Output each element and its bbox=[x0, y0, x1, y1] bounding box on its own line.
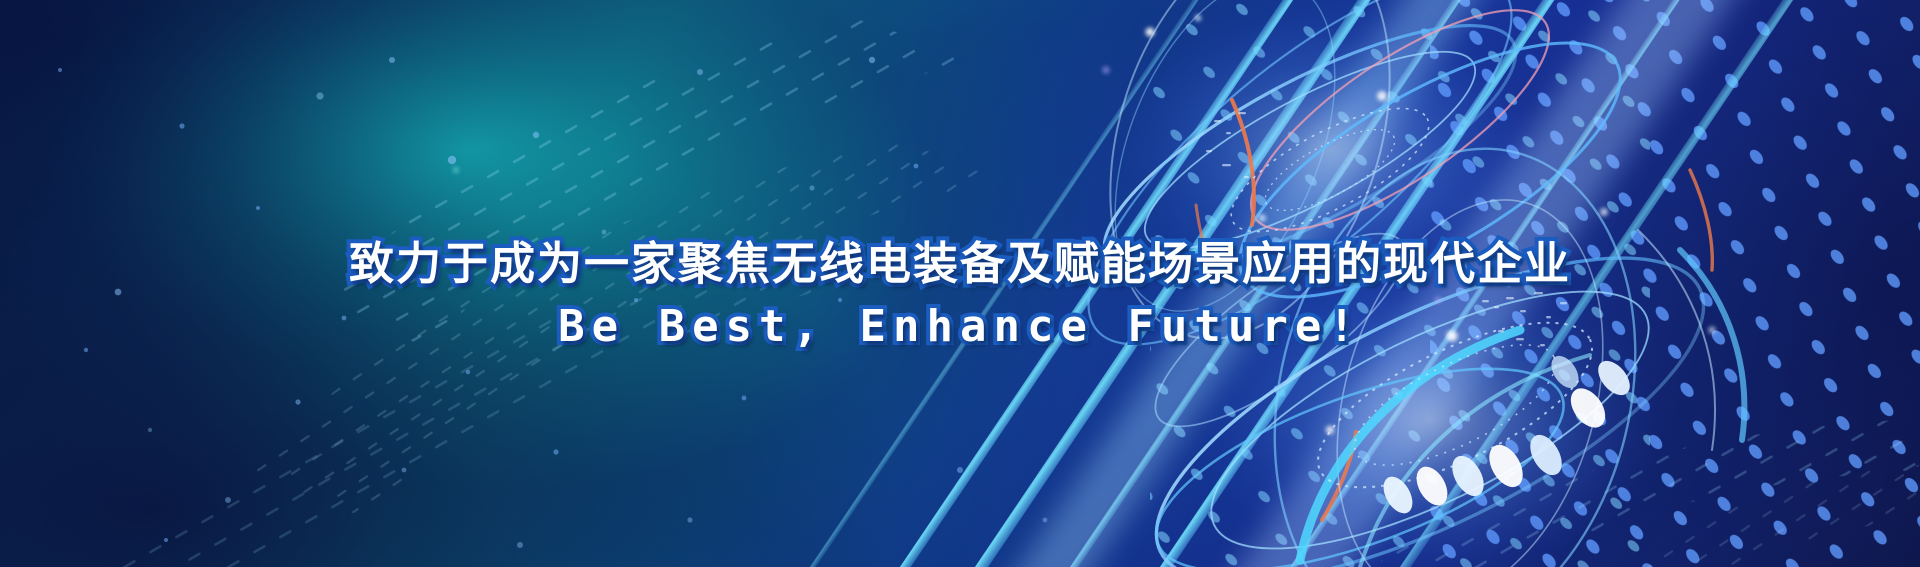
hero-banner: 致力于成为一家聚焦无线电装备及赋能场景应用的现代企业 Be Best, Enha… bbox=[0, 0, 1920, 567]
background-artwork bbox=[0, 0, 1920, 567]
